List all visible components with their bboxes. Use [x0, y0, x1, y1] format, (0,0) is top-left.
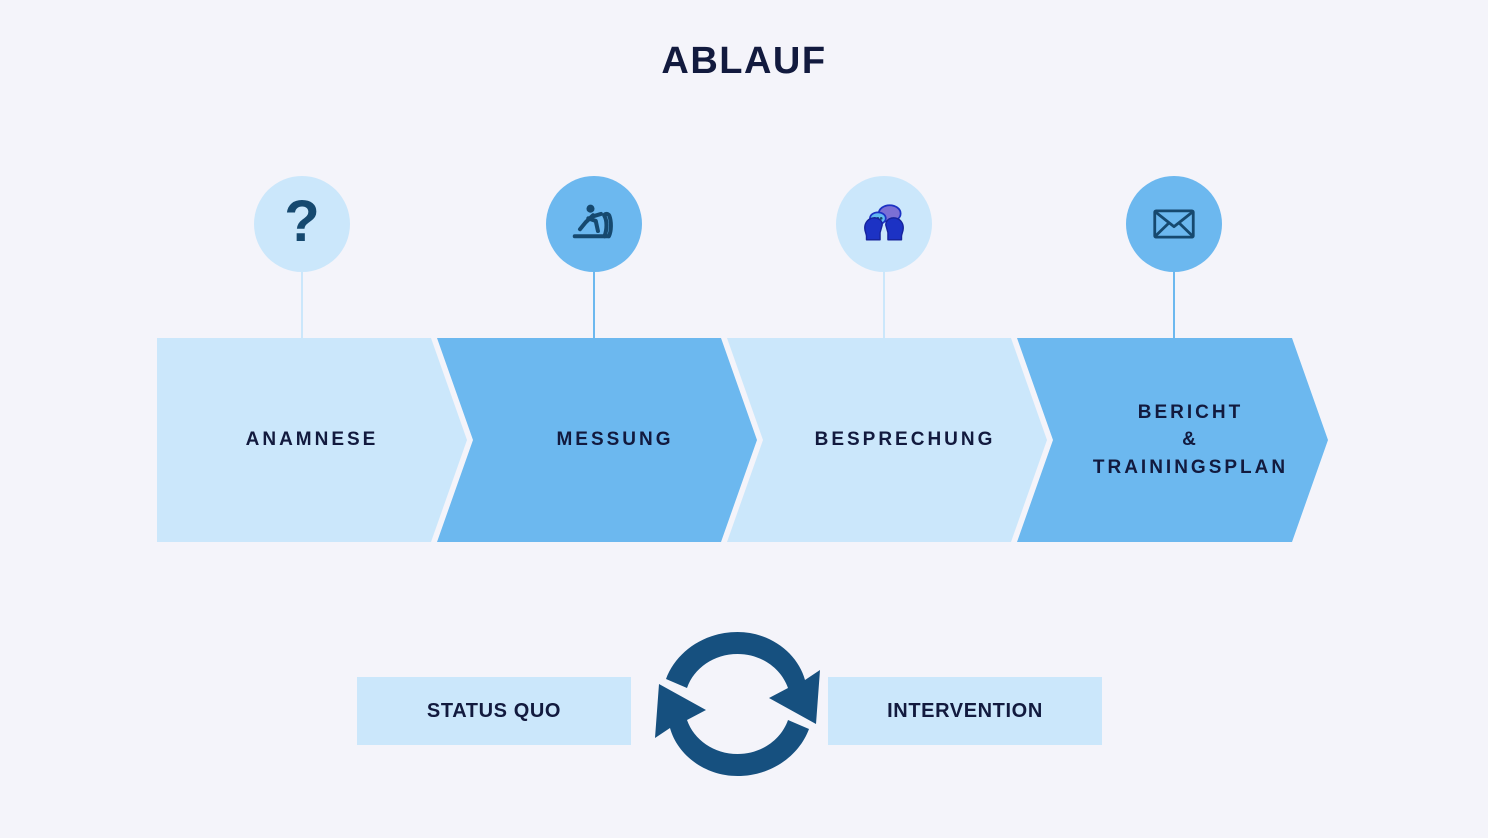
marker-circle[interactable]: [546, 176, 642, 272]
marker-besprechung[interactable]: [836, 176, 932, 340]
marker-circle[interactable]: [836, 176, 932, 272]
diagram-canvas: ABLAUF ?: [0, 0, 1488, 838]
marker-bericht[interactable]: [1126, 176, 1222, 340]
intervention-label: INTERVENTION: [887, 700, 1043, 723]
marker-circle[interactable]: [1126, 176, 1222, 272]
status-quo-box[interactable]: STATUS QUO: [357, 677, 631, 745]
step-besprechung[interactable]: BESPRECHUNG: [727, 338, 1047, 542]
step-label: ANAMNESE: [246, 426, 379, 454]
page-title: ABLAUF: [0, 42, 1488, 80]
intervention-box[interactable]: INTERVENTION: [828, 677, 1102, 745]
step-label: BERICHT&TRAININGSPLAN: [1093, 399, 1288, 482]
marker-circle[interactable]: ?: [254, 176, 350, 272]
refresh-cycle-icon: [645, 620, 830, 788]
marker-anamnese[interactable]: ?: [254, 176, 350, 340]
process-chevron-band: ANAMNESE MESSUNG BESPRECHUNG BERICHT&TRA…: [0, 338, 1488, 542]
envelope-icon: [1146, 196, 1202, 252]
marker-stem: [593, 272, 595, 338]
marker-messung[interactable]: [546, 176, 642, 340]
status-quo-label: STATUS QUO: [427, 700, 561, 723]
treadmill-icon: [566, 196, 622, 252]
question-mark-icon: ?: [284, 193, 319, 251]
marker-stem: [301, 272, 303, 338]
step-label: BESPRECHUNG: [815, 426, 996, 454]
step-messung[interactable]: MESSUNG: [437, 338, 757, 542]
conversation-icon: [856, 196, 912, 252]
marker-stem: [1173, 272, 1175, 338]
marker-stem: [883, 272, 885, 338]
step-anamnese[interactable]: ANAMNESE: [157, 338, 467, 542]
step-bericht-trainingsplan[interactable]: BERICHT&TRAININGSPLAN: [1017, 338, 1328, 542]
step-label: MESSUNG: [556, 426, 673, 454]
